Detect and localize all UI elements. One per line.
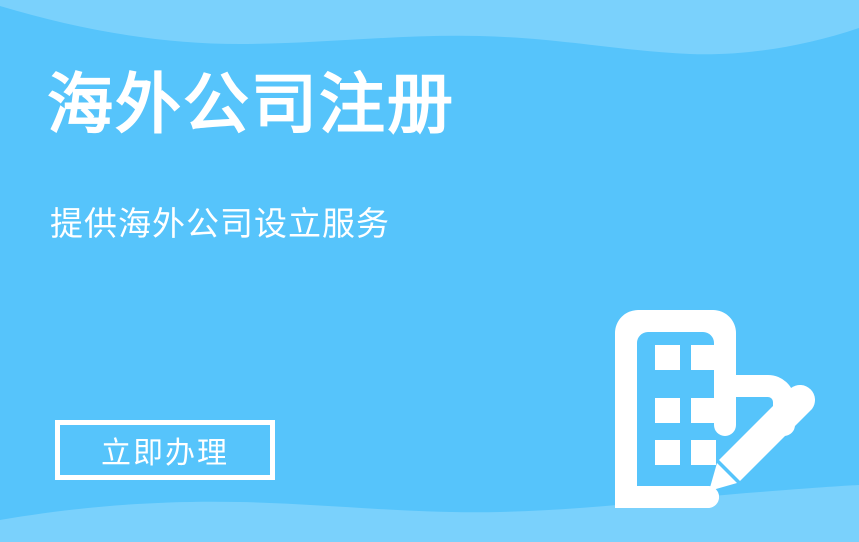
overseas-company-registration-banner: 海外公司注册 提供海外公司设立服务 立即办理: [0, 0, 859, 542]
building-windows: [655, 345, 716, 465]
page-subtitle: 提供海外公司设立服务: [50, 207, 390, 240]
apply-now-button[interactable]: 立即办理: [55, 420, 275, 480]
building-with-pencil-icon: [605, 300, 825, 525]
page-title: 海外公司注册: [47, 72, 455, 138]
banner-content: 海外公司注册 提供海外公司设立服务 立即办理: [0, 0, 859, 542]
